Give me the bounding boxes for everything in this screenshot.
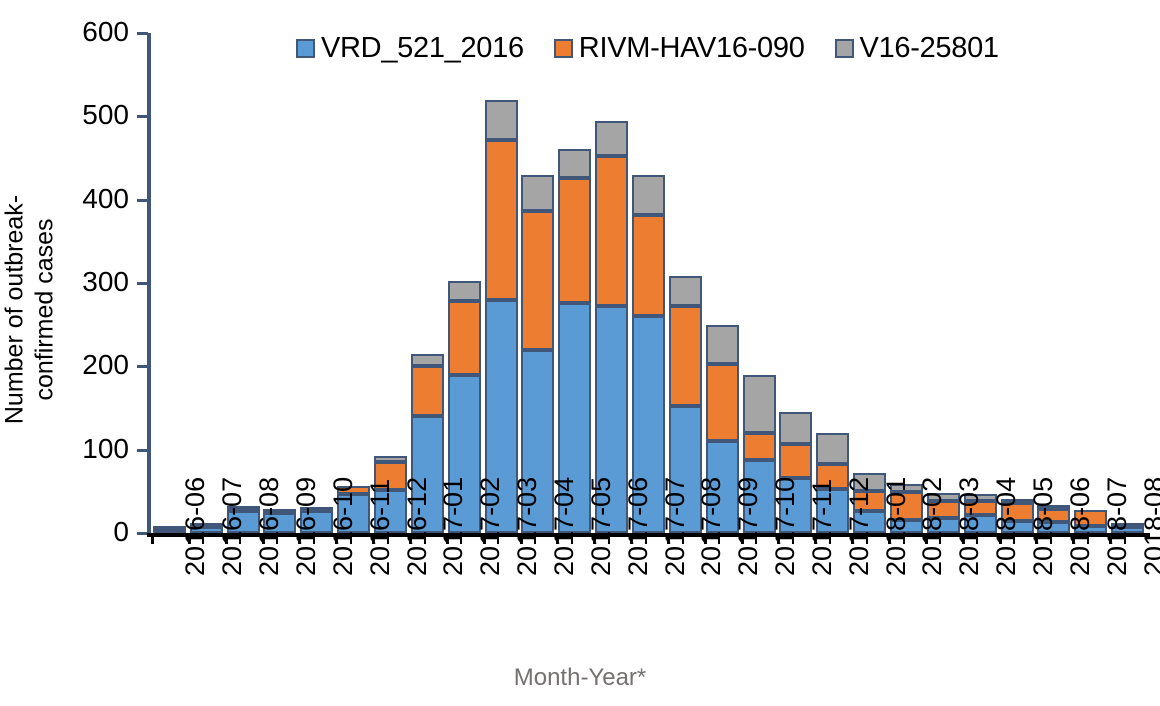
x-axis-tick-label: 2018-01: [882, 548, 910, 576]
x-axis-tick-mark: [925, 533, 928, 544]
bar-segment[interactable]: [374, 456, 407, 462]
y-axis-tick-mark: [137, 365, 148, 368]
bar-segment[interactable]: [411, 366, 444, 416]
y-axis-tick-label: 500: [55, 101, 129, 129]
x-axis-tick-label: 2016-07: [218, 548, 246, 576]
plot-area: [151, 20, 1146, 533]
x-axis-tick-label: 2018-05: [1029, 548, 1057, 576]
bar-segment[interactable]: [669, 306, 702, 406]
x-axis-tick-mark: [446, 533, 449, 544]
legend-item[interactable]: V16-25801: [835, 32, 999, 65]
x-axis-tick-mark: [630, 533, 633, 544]
y-axis-tick-mark: [137, 115, 148, 118]
x-axis-tick-mark: [262, 533, 265, 544]
x-axis-tick-label: 2017-08: [697, 548, 725, 576]
x-axis-title: Month-Year*: [0, 664, 1160, 692]
x-axis-tick-mark: [593, 533, 596, 544]
x-axis-tick-label: 2018-06: [1066, 548, 1094, 576]
x-axis-tick-label: 2017-11: [808, 548, 836, 576]
x-axis-tick-mark: [777, 533, 780, 544]
x-axis-tick-label: 2017-07: [661, 548, 689, 576]
bar-segment[interactable]: [448, 281, 481, 302]
x-axis-tick-mark: [409, 533, 412, 544]
y-axis-tick-mark: [137, 199, 148, 202]
x-axis-tick-label: 2018-07: [1103, 548, 1131, 576]
bar-segment[interactable]: [521, 175, 554, 212]
bar-segment[interactable]: [558, 178, 591, 303]
legend-swatch-icon: [835, 39, 854, 58]
y-axis-tick-mark: [137, 282, 148, 285]
x-axis-tick-label: 2016-06: [181, 548, 209, 576]
x-axis-tick-label: 2017-01: [439, 548, 467, 576]
x-axis-tick-mark: [851, 533, 854, 544]
bar-segment[interactable]: [485, 100, 518, 140]
x-axis-tick-label: 2016-09: [292, 548, 320, 576]
x-axis-tick-label: 2018-02: [918, 548, 946, 576]
x-axis-tick-mark: [704, 533, 707, 544]
bar-segment[interactable]: [632, 215, 665, 317]
y-axis-tick-label: 0: [55, 518, 129, 546]
x-axis-tick-mark: [962, 533, 965, 544]
y-axis-tick-label: 400: [55, 185, 129, 213]
x-axis-tick-label: 2018-03: [955, 548, 983, 576]
x-axis-tick-label: 2018-04: [992, 548, 1020, 576]
bar-segment[interactable]: [706, 325, 739, 364]
x-axis-tick-mark: [1109, 533, 1112, 544]
x-axis-tick-mark: [335, 533, 338, 544]
x-axis-tick-label: 2017-04: [550, 548, 578, 576]
x-axis-tick-label: 2017-09: [734, 548, 762, 576]
x-axis-tick-label: 2016-12: [403, 548, 431, 576]
bar-segment[interactable]: [448, 301, 481, 374]
bar-segment[interactable]: [485, 140, 518, 300]
legend-label: V16-25801: [860, 32, 999, 65]
y-axis-title-text: Number of outbreak- confirmed cases: [1, 160, 60, 460]
x-axis-tick-mark: [520, 533, 523, 544]
y-axis-tick-label: 100: [55, 435, 129, 463]
x-axis-tick-mark: [888, 533, 891, 544]
y-axis-title: Number of outbreak- confirmed cases: [0, 150, 60, 450]
x-axis-tick-mark: [667, 533, 670, 544]
x-axis-tick-label: 2017-02: [476, 548, 504, 576]
x-axis-tick-mark: [556, 533, 559, 544]
x-axis-tick-mark: [298, 533, 301, 544]
x-axis-tick-label: 2016-11: [366, 548, 394, 576]
x-axis-tick-mark: [151, 533, 154, 544]
y-axis-tick-label: 200: [55, 351, 129, 379]
x-axis-tick-label: 2017-05: [587, 548, 615, 576]
bar-segment[interactable]: [669, 276, 702, 306]
bar-segment[interactable]: [779, 412, 812, 444]
x-axis-tick-mark: [1035, 533, 1038, 544]
legend-label: VRD_521_2016: [321, 32, 524, 65]
legend-label: RIVM-HAV16-090: [579, 32, 805, 65]
legend-item[interactable]: VRD_521_2016: [296, 32, 524, 65]
y-axis-tick-label: 300: [55, 268, 129, 296]
x-axis-tick-label: 2017-12: [845, 548, 873, 576]
y-axis-tick-mark: [137, 32, 148, 35]
x-axis-tick-label: 2017-03: [513, 548, 541, 576]
bar-segment[interactable]: [743, 375, 776, 433]
bar-chart: Number of outbreak- confirmed cases 0100…: [0, 0, 1160, 706]
bar-segment[interactable]: [743, 433, 776, 460]
x-axis-tick-label: 2016-08: [255, 548, 283, 576]
bar-segment[interactable]: [632, 175, 665, 215]
x-axis-tick-mark: [225, 533, 228, 544]
bar-segment[interactable]: [595, 121, 628, 155]
bar-segment[interactable]: [411, 354, 444, 367]
chart-legend: VRD_521_2016RIVM-HAV16-090V16-25801: [296, 32, 999, 65]
x-axis-tick-mark: [188, 533, 191, 544]
x-axis-tick-label: 2017-10: [771, 548, 799, 576]
bar-segment[interactable]: [816, 433, 849, 464]
x-axis-tick-label: 2017-06: [624, 548, 652, 576]
x-axis-tick-mark: [814, 533, 817, 544]
x-axis-tick-mark: [741, 533, 744, 544]
legend-item[interactable]: RIVM-HAV16-090: [554, 32, 805, 65]
bar-segment[interactable]: [595, 156, 628, 307]
x-axis-tick-mark: [483, 533, 486, 544]
x-axis-tick-mark: [999, 533, 1002, 544]
x-axis-tick-label: 2018-08: [1140, 548, 1160, 576]
bar-segment[interactable]: [779, 444, 812, 478]
y-axis-tick-label: 600: [55, 18, 129, 46]
bar-segment[interactable]: [521, 211, 554, 349]
legend-swatch-icon: [554, 39, 573, 58]
y-axis-tick-mark: [137, 449, 148, 452]
x-axis-tick-label: 2016-10: [329, 548, 357, 576]
bar-segment[interactable]: [558, 149, 591, 178]
legend-swatch-icon: [296, 39, 315, 58]
x-axis-tick-mark: [1072, 533, 1075, 544]
bar-segment[interactable]: [706, 364, 739, 442]
x-axis-tick-mark: [372, 533, 375, 544]
